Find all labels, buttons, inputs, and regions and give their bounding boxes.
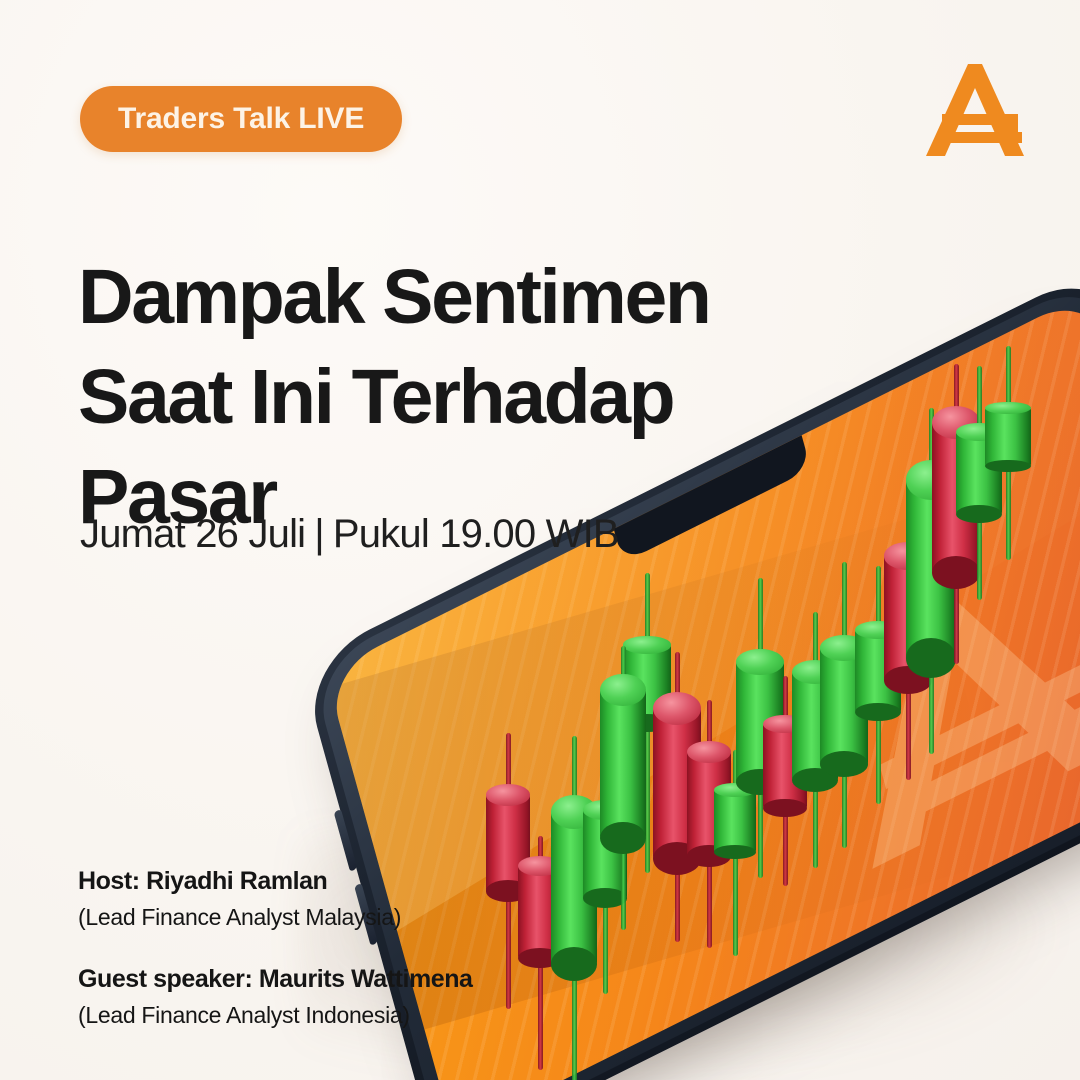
schedule-time: Pukul 19.00 WIB xyxy=(333,512,619,556)
schedule-date: Jumat 26 Juli xyxy=(80,512,305,556)
schedule-separator: | xyxy=(314,512,324,557)
host-role: (Lead Finance Analyst Malaysia) xyxy=(78,903,473,933)
credits-block: Host: Riyadhi Ramlan (Lead Finance Analy… xyxy=(78,866,473,1031)
headline-line-2: Saat Ini Terhadap xyxy=(78,347,838,447)
host-name: Host: Riyadhi Ramlan xyxy=(78,866,473,898)
host-credit: Host: Riyadhi Ramlan (Lead Finance Analy… xyxy=(78,866,473,932)
headline-line-1: Dampak Sentimen xyxy=(78,247,838,347)
live-badge-label: Traders Talk LIVE xyxy=(118,102,364,136)
poster-canvas: Traders Talk LIVE Dampak Sentimen Saat I… xyxy=(0,0,1080,1080)
brand-a-logo-icon xyxy=(920,58,1032,162)
schedule-line: Jumat 26 Juli|Pukul 19.00 WIB xyxy=(80,512,619,557)
guest-credit: Guest speaker: Maurits Wattimena (Lead F… xyxy=(78,964,473,1030)
poster-content: Traders Talk LIVE Dampak Sentimen Saat I… xyxy=(0,0,1080,1080)
guest-role: (Lead Finance Analyst Indonesia) xyxy=(78,1001,473,1031)
page-title: Dampak Sentimen Saat Ini Terhadap Pasar xyxy=(78,247,838,547)
live-badge: Traders Talk LIVE xyxy=(80,86,402,152)
guest-name: Guest speaker: Maurits Wattimena xyxy=(78,964,473,996)
